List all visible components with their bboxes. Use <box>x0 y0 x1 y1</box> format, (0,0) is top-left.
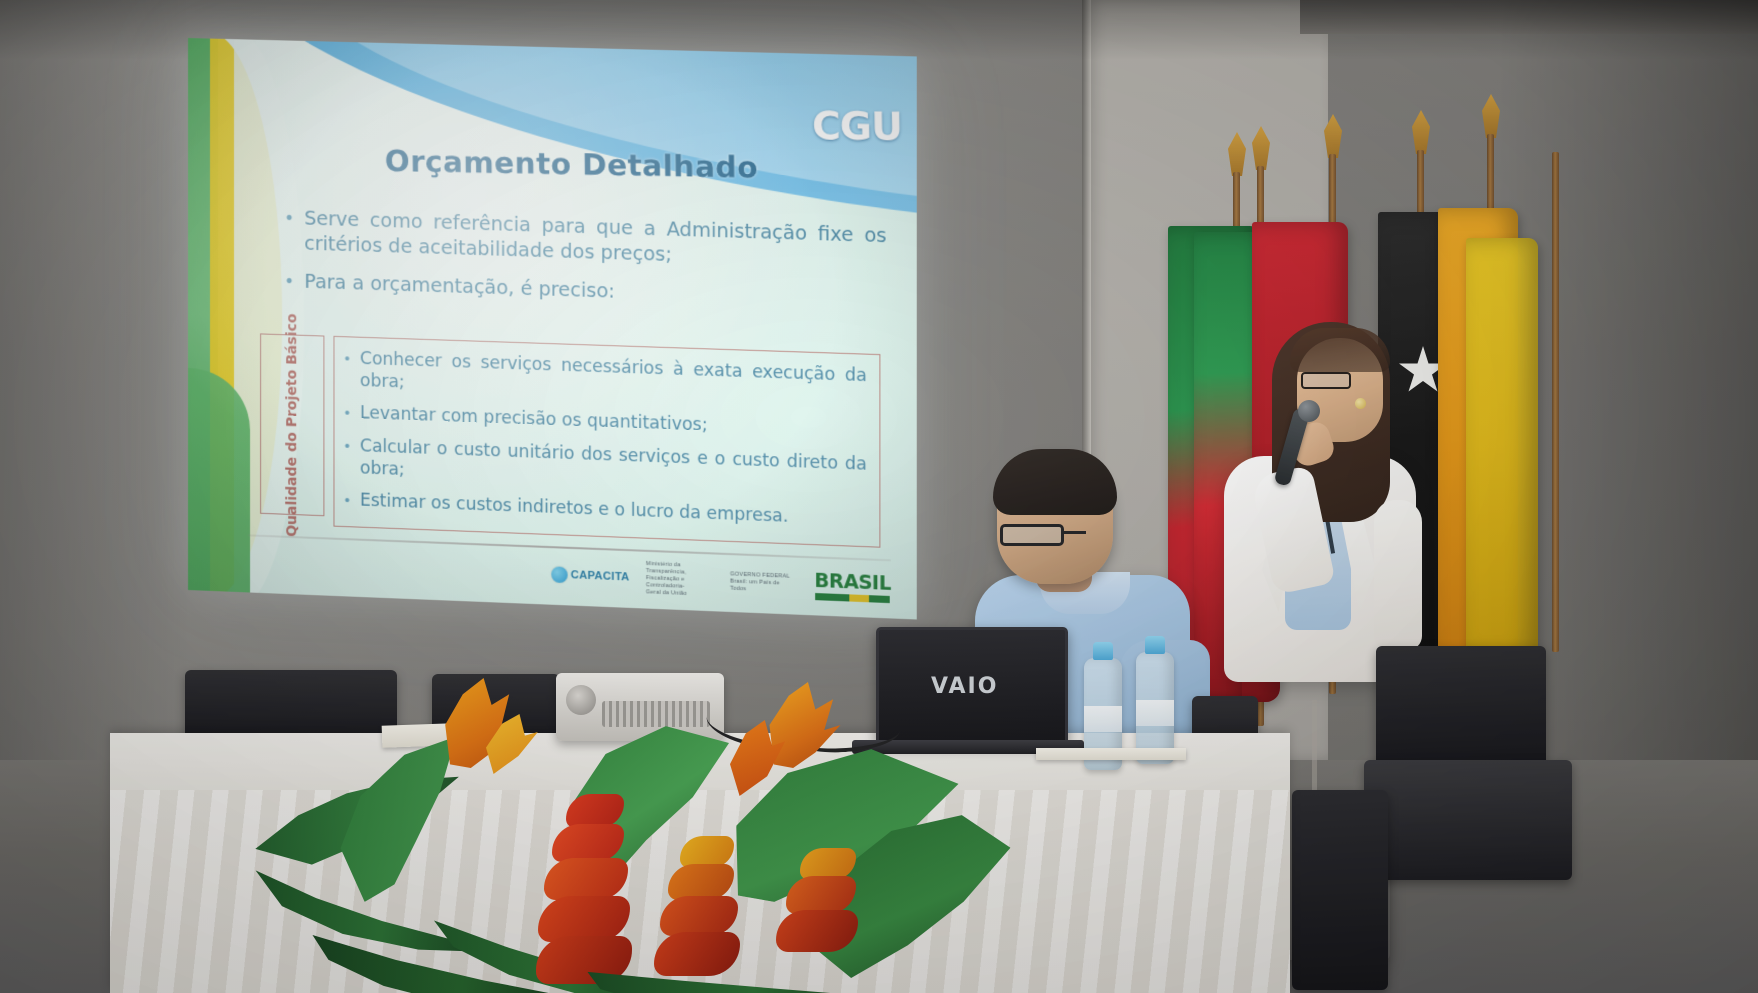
flower-arrangement <box>250 648 1010 993</box>
chair-6[interactable] <box>1292 790 1388 990</box>
brasil-label: BRASIL <box>814 570 890 595</box>
chair-5[interactable] <box>1364 760 1572 880</box>
box-list-text: Estimar os custos indiretos e o lucro da… <box>360 489 867 531</box>
earring-icon <box>1355 398 1366 409</box>
bottle-cap <box>1093 642 1113 660</box>
bullet-dot-icon: • <box>345 489 350 512</box>
box-list-item: • Conhecer os serviços necessários à exa… <box>345 347 867 409</box>
capacita-label: CAPACITA <box>571 569 630 583</box>
paper-sheet[interactable] <box>1036 748 1186 760</box>
capacita-dot-icon <box>551 566 567 583</box>
slide-green-ribbon-lower <box>188 368 250 599</box>
bullet-dot-icon: • <box>345 435 350 479</box>
box-list-text: Calcular o custo unitário dos serviços e… <box>360 435 867 498</box>
government-logo-text: GOVERNO FEDERAL Brasil: um País de Todos <box>730 571 792 595</box>
woman-hair-fringe <box>1290 328 1390 372</box>
heliconia-spike <box>770 848 880 993</box>
bullet-dot-icon: • <box>345 402 350 425</box>
eyeglasses-icon <box>1301 372 1351 389</box>
bullet-dot-icon: • <box>345 347 350 391</box>
box-list-item: • Calcular o custo unitário dos serviços… <box>345 435 867 499</box>
ministry-line-3: Geral da União <box>646 589 714 599</box>
brasil-logo: BRASIL <box>814 570 890 604</box>
microphone-head-icon <box>1298 400 1320 422</box>
woman-right-arm <box>1374 500 1422 650</box>
bottle-label <box>1084 706 1122 732</box>
slide-side-label-text: Qualidade do Projeto Básico <box>284 313 301 537</box>
slide-highlight-box-group: Qualidade do Projeto Básico • Conhecer o… <box>260 333 880 547</box>
capacita-logo: CAPACITA <box>551 566 629 585</box>
ministry-logo-text: Ministério da Transparência, Fiscalizaçã… <box>646 560 714 598</box>
slide-requirements-box: • Conhecer os serviços necessários à exa… <box>333 336 880 548</box>
slide-bullet-item: • Para a orçamentação, é preciso: <box>284 269 886 315</box>
seated-man-hair <box>993 449 1117 515</box>
slide-bullet-text: Para a orçamentação, é preciso: <box>304 270 886 315</box>
bottle-cap <box>1145 636 1165 654</box>
heliconia-spike <box>654 836 754 993</box>
box-list-text: Conhecer os serviços necessários à exata… <box>360 348 867 410</box>
projected-slide: CGU Orçamento Detalhado • Serve como ref… <box>188 38 917 619</box>
bird-of-paradise-flower <box>768 682 842 768</box>
eyeglasses-bridge <box>1064 531 1086 534</box>
flag-pole <box>1552 152 1559 652</box>
slide-bullet-list: • Serve como referência para que a Admin… <box>284 206 886 328</box>
slide-side-label-box: Qualidade do Projeto Básico <box>260 333 324 516</box>
eyeglasses-icon <box>1000 524 1064 546</box>
chair-4[interactable] <box>1376 646 1546 766</box>
presentation-photo-scene: CGU Orçamento Detalhado • Serve como ref… <box>0 0 1758 993</box>
bullet-dot-icon: • <box>284 206 294 256</box>
bottle-label <box>1136 700 1174 726</box>
bullet-dot-icon: • <box>284 269 294 295</box>
heliconia-spike <box>536 794 646 993</box>
government-line-2: Brasil: um País de Todos <box>730 578 792 595</box>
cgu-logo: CGU <box>812 103 903 149</box>
flag-cloth <box>1466 238 1538 658</box>
